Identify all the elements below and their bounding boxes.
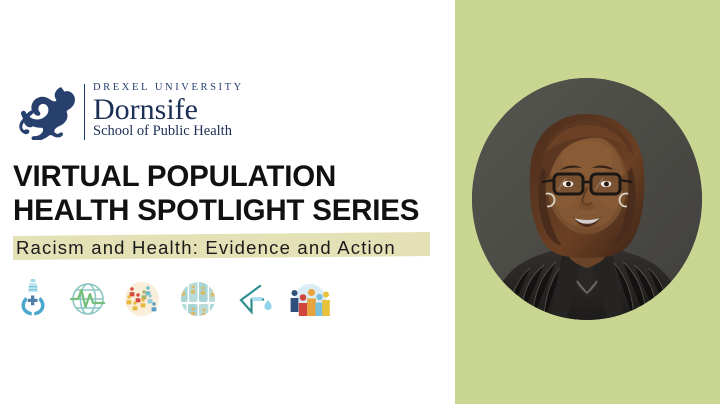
speaker-portrait — [472, 78, 702, 320]
globe-heartbeat-icon — [65, 276, 111, 322]
slide-headline: VIRTUAL POPULATION HEALTH SPOTLIGHT SERI… — [13, 160, 443, 228]
logo-school-name: School of Public Health — [93, 124, 232, 139]
accent-panel — [455, 0, 720, 404]
headline-line-1: VIRTUAL POPULATION — [13, 160, 443, 194]
headline-line-2: HEALTH SPOTLIGHT SERIES — [13, 194, 443, 228]
speaker-portrait-circle — [472, 78, 702, 320]
drexel-dragon-icon — [14, 82, 80, 140]
presentation-slide: DREXEL UNIVERSITY Dornsife School of Pub… — [0, 0, 720, 404]
logo-divider-rule — [84, 84, 85, 140]
slide-subtitle: Racism and Health: Evidence and Action — [13, 234, 443, 262]
faucet-water-drop-icon — [230, 276, 276, 322]
subtitle-text: Racism and Health: Evidence and Action — [16, 237, 396, 259]
housing-community-icon — [175, 276, 221, 322]
logo-university-name: DREXEL UNIVERSITY — [93, 83, 244, 94]
logo-wordmark-block: DREXEL UNIVERSITY Dornsife School of Pub… — [93, 82, 244, 139]
people-group-icon — [285, 276, 331, 322]
drexel-dornsife-logo: DREXEL UNIVERSITY Dornsife School of Pub… — [14, 82, 244, 140]
public-health-icon-row — [10, 276, 331, 322]
speaker-portrait-illustration — [472, 78, 702, 320]
hands-holding-cross-icon — [10, 276, 56, 322]
logo-dornsife-wordmark: Dornsife — [93, 95, 198, 126]
population-scatter-icon — [120, 276, 166, 322]
left-content-panel: DREXEL UNIVERSITY Dornsife School of Pub… — [0, 0, 455, 404]
